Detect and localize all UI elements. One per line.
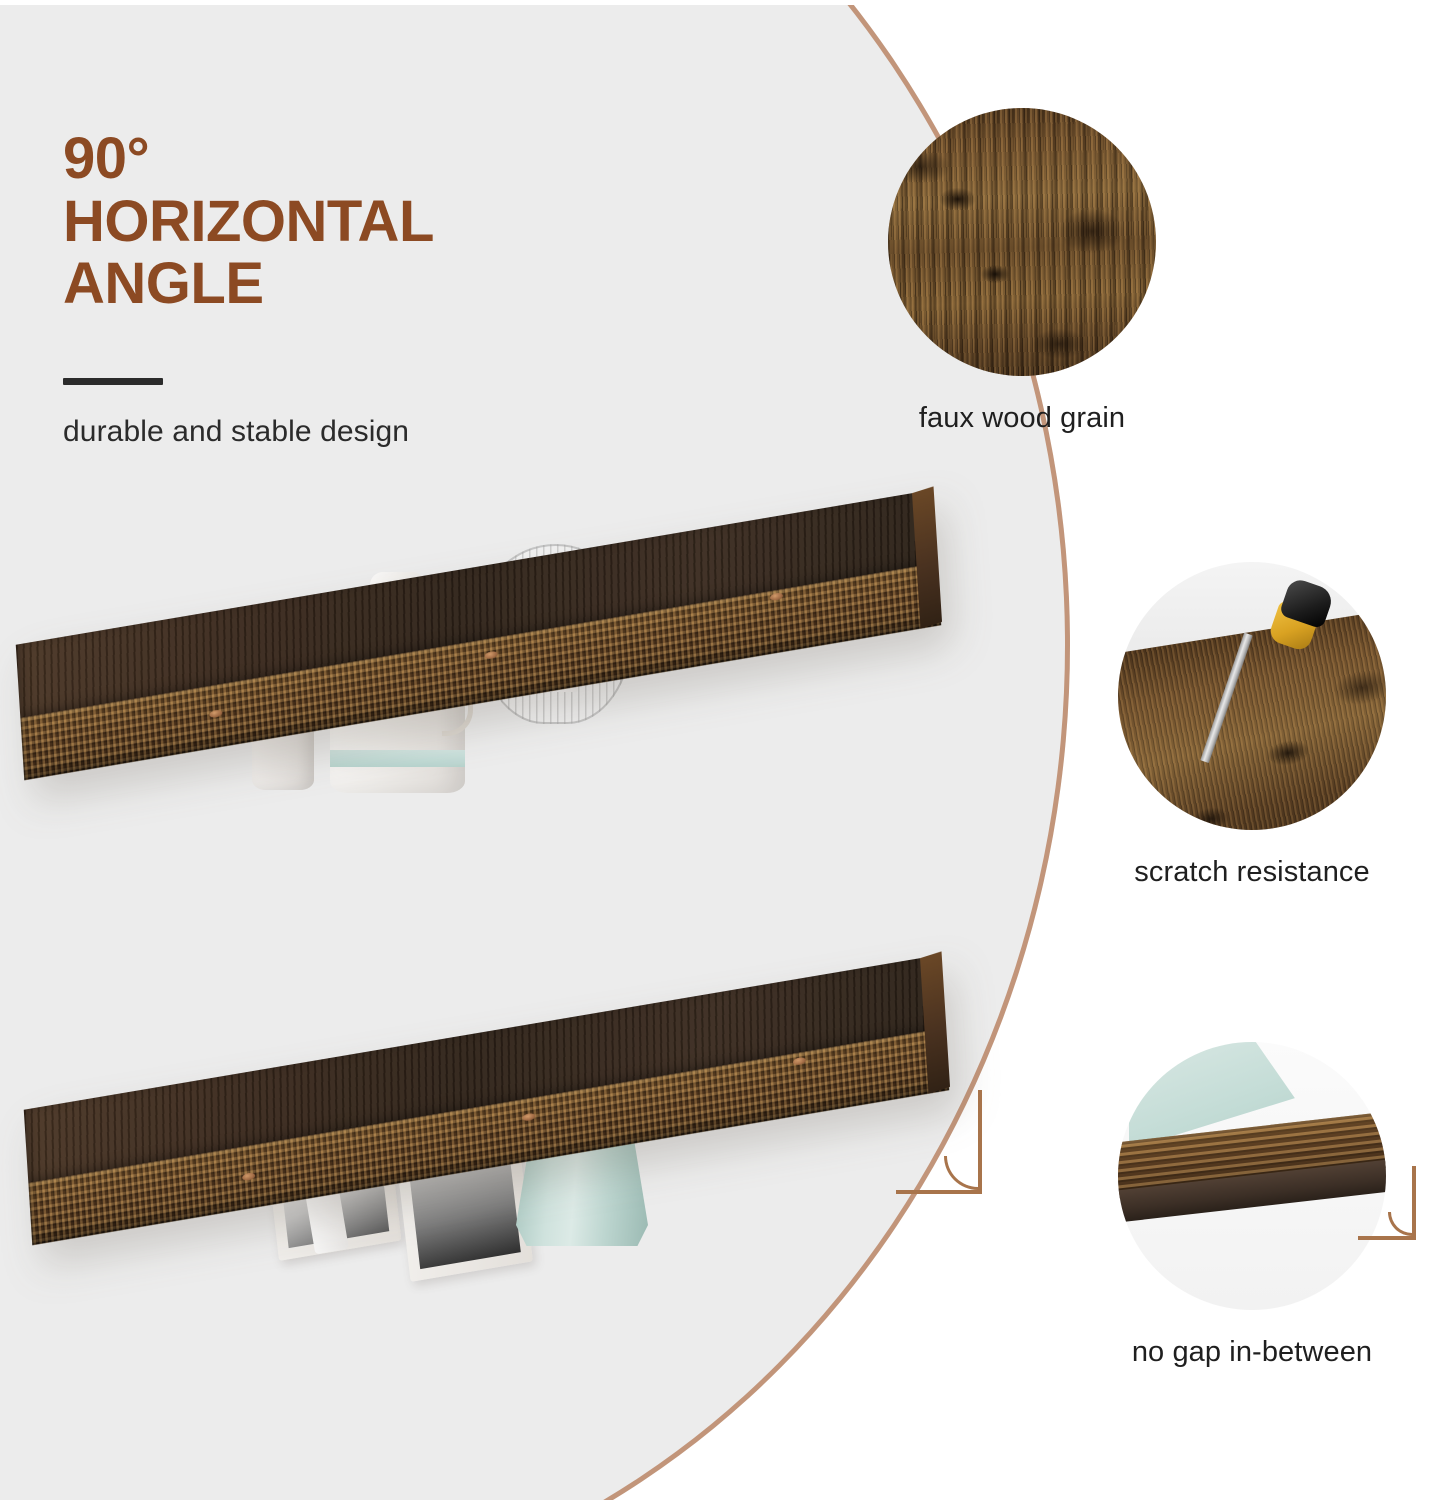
jug-mint-band	[330, 750, 465, 767]
feature-scratch-resistance: scratch resistance	[1092, 562, 1412, 889]
feature-label-scratch: scratch resistance	[1092, 856, 1412, 889]
angle-marker-horizontal-leg	[1358, 1236, 1416, 1240]
feature-label-wood: faux wood grain	[862, 402, 1182, 435]
angle-marker-arc	[1388, 1212, 1412, 1236]
subtitle: durable and stable design	[63, 415, 623, 449]
feature-faux-wood-grain: faux wood grain	[862, 108, 1182, 435]
shelf-board	[16, 490, 941, 781]
arc-mask-top	[0, 0, 1445, 5]
page-title: 90° HORIZONTAL ANGLE	[63, 128, 623, 316]
angle-marker-arc	[944, 1156, 978, 1190]
angle-marker-vertical-leg	[1412, 1166, 1416, 1240]
upper-floating-shelf	[16, 490, 941, 781]
shelf-scene	[0, 470, 1040, 1370]
product-feature-infographic: 90° HORIZONTAL ANGLE durable and stable …	[0, 0, 1445, 1500]
angle-90-marker-main	[896, 1090, 982, 1194]
feature-label-gap: no gap in-between	[1092, 1336, 1412, 1369]
title-divider-rule	[63, 378, 163, 385]
angle-marker-horizontal-leg	[896, 1190, 982, 1194]
angle-90-marker-detail	[1358, 1166, 1416, 1240]
shelf-edge-icon	[1118, 1042, 1386, 1310]
angle-marker-vertical-leg	[978, 1090, 982, 1194]
wood-texture	[888, 108, 1156, 376]
headline-block: 90° HORIZONTAL ANGLE durable and stable …	[63, 128, 623, 449]
wood-grain-swatch-icon	[888, 108, 1156, 376]
screwdriver-icon	[1118, 562, 1386, 830]
